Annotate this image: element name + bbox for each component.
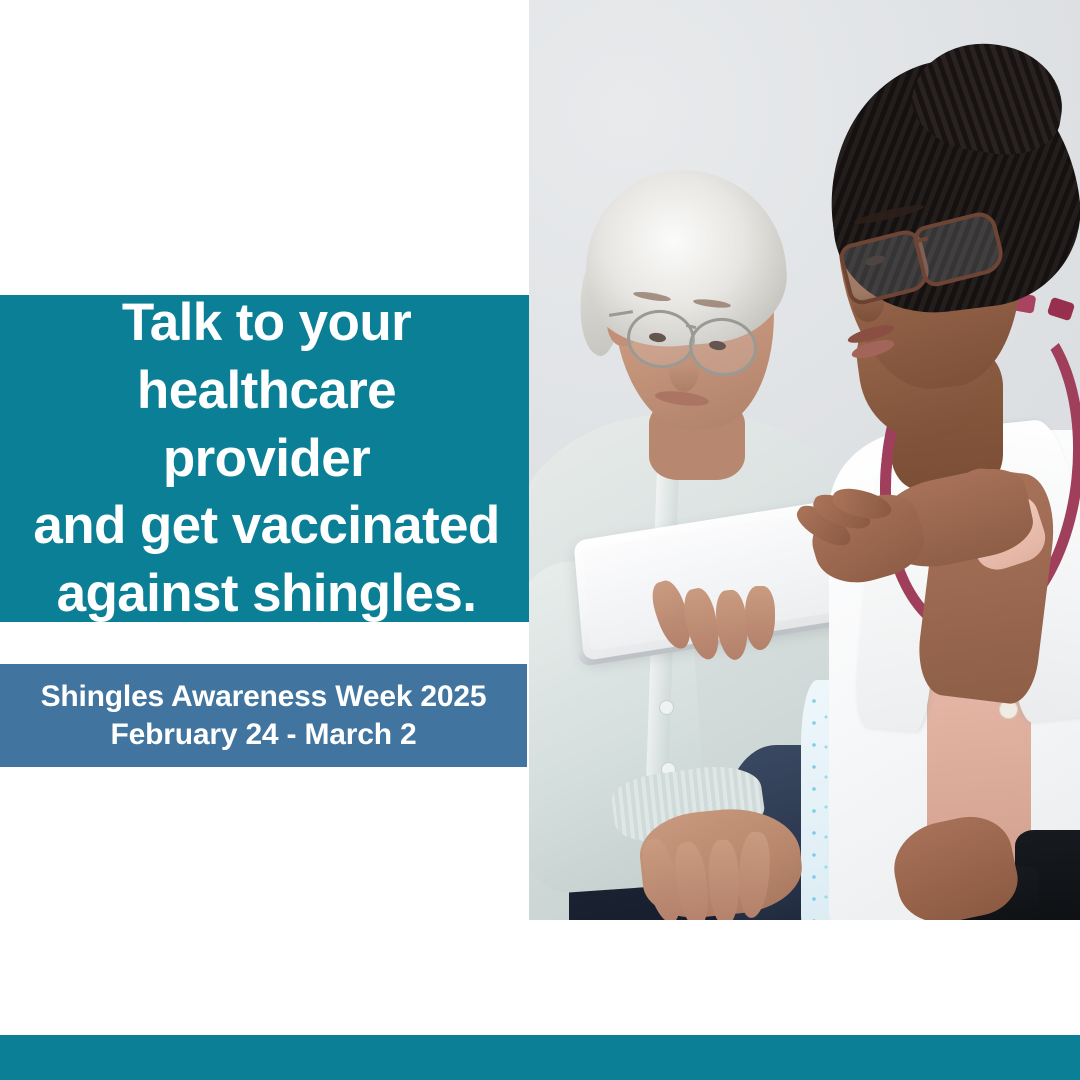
headline-line-4: against shingles.	[30, 560, 503, 628]
doctor-nose	[851, 274, 885, 322]
photo-panel	[529, 0, 1080, 920]
patient-button	[659, 700, 674, 715]
headline-block: Talk to your healthcare provider and get…	[0, 295, 529, 622]
campaign-dates: February 24 - March 2	[111, 716, 417, 754]
headline-line-1: Talk to your	[30, 289, 503, 357]
headline-line-3: and get vaccinated	[30, 492, 503, 560]
poster-canvas: Talk to your healthcare provider and get…	[0, 0, 1080, 1080]
headline-line-2: healthcare provider	[30, 357, 503, 493]
patient-nose	[669, 348, 699, 392]
campaign-name: Shingles Awareness Week 2025	[41, 678, 487, 716]
patient-finger-on-tablet	[745, 586, 775, 650]
subtitle-block: Shingles Awareness Week 2025 February 24…	[0, 664, 527, 767]
bottom-accent-bar	[0, 1035, 1080, 1080]
